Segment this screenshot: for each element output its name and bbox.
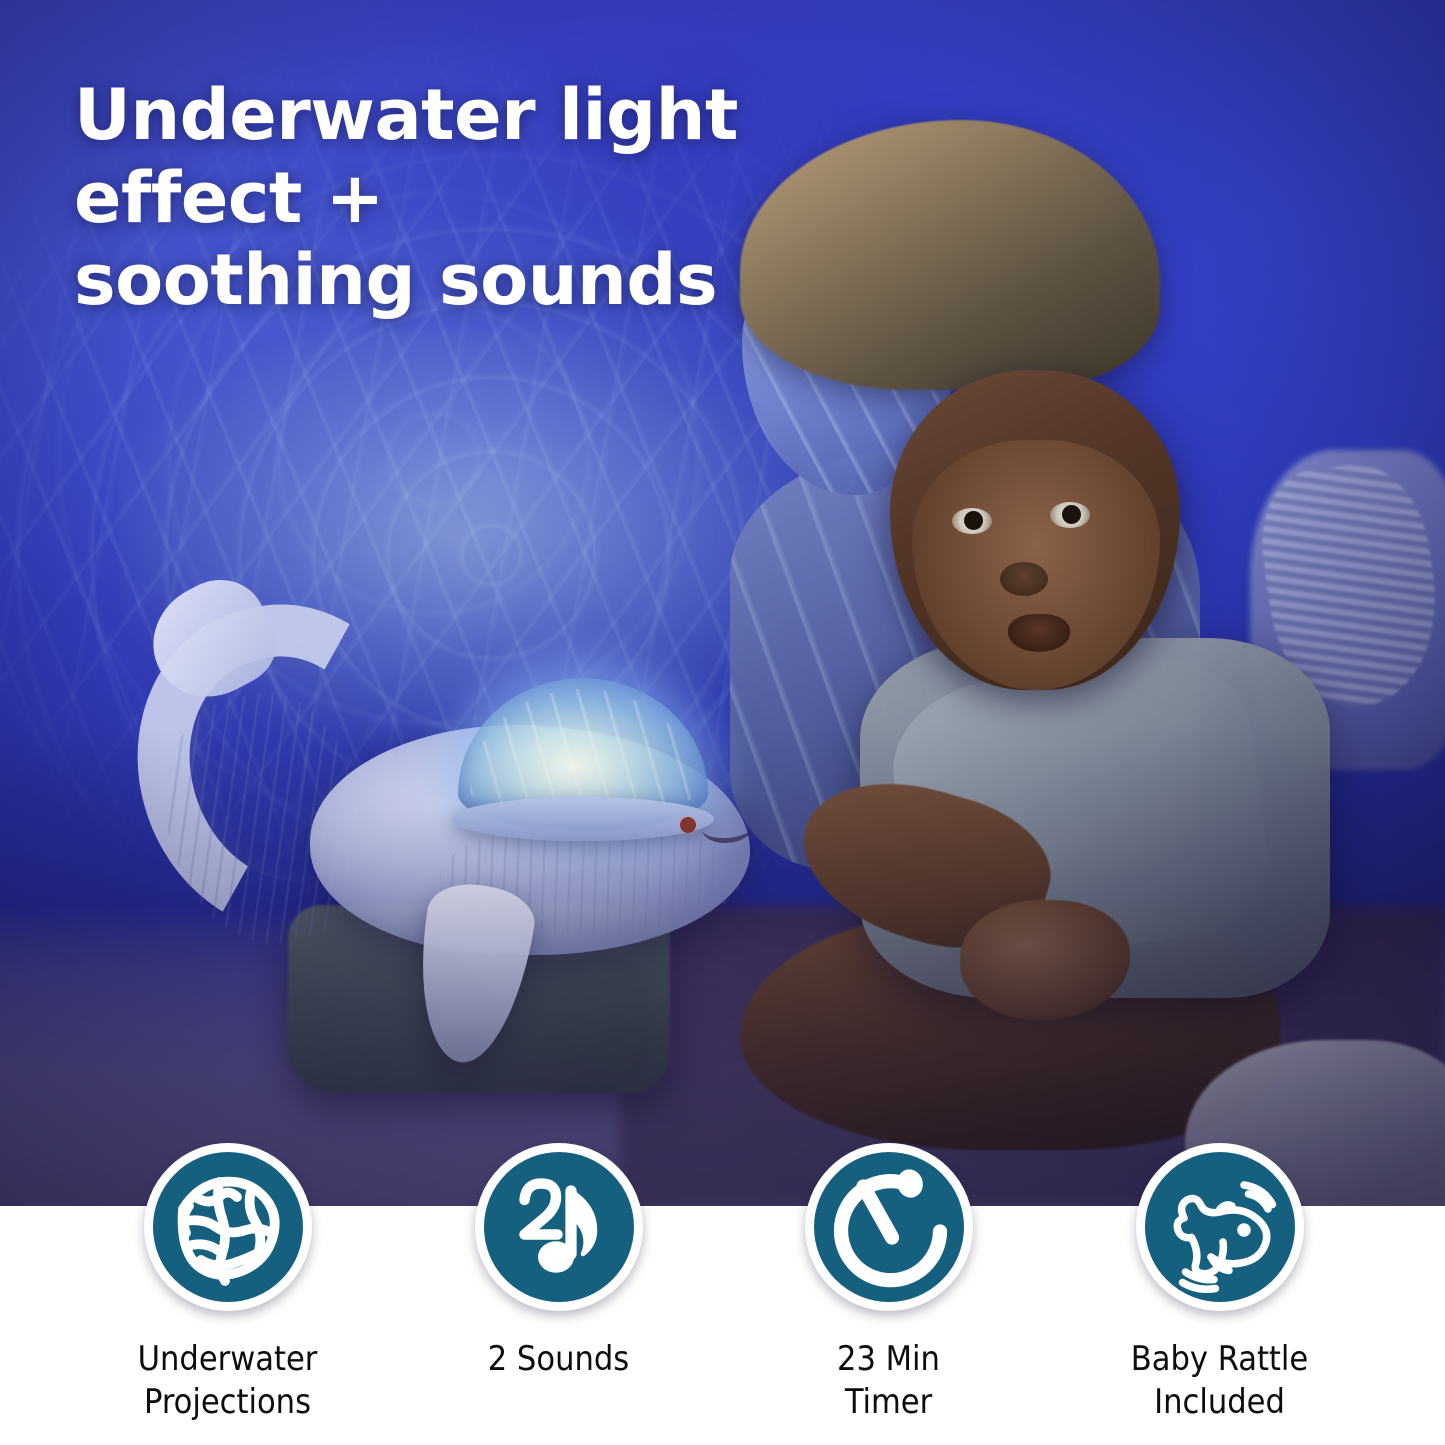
water-caustics-icon <box>144 1143 312 1311</box>
lifestyle-photo: Underwater light effect + soothing sound… <box>0 0 1445 1206</box>
baby <box>860 370 1400 1130</box>
baby-pupil-right <box>1062 505 1081 524</box>
page-title: Underwater light effect + soothing sound… <box>74 74 954 322</box>
baby-mouth <box>1008 614 1070 652</box>
feature-baby-rattle: Baby Rattle Included <box>1054 1206 1385 1445</box>
feature-timer: 23 Min Timer <box>723 1206 1054 1445</box>
headline-line-1: Underwater light effect + <box>74 74 738 239</box>
whale-night-light-product <box>140 585 780 1005</box>
projector-dome-rim <box>452 797 714 841</box>
feature-label: Baby Rattle Included <box>1054 1338 1385 1424</box>
baby-nose <box>1000 562 1048 596</box>
feature-strip: Underwater Projections 2 Sounds <box>0 1206 1445 1445</box>
feature-underwater-projections: Underwater Projections <box>62 1206 393 1445</box>
music-note-two-icon <box>475 1143 643 1311</box>
stopwatch-timer-icon <box>805 1143 973 1311</box>
baby-pupil-left <box>964 511 983 530</box>
feature-two-sounds: 2 Sounds <box>393 1206 724 1445</box>
feature-label: Underwater Projections <box>62 1338 393 1424</box>
product-feature-banner: Underwater light effect + soothing sound… <box>0 0 1445 1445</box>
feature-label: 2 Sounds <box>393 1338 724 1381</box>
whale-eye <box>680 817 696 833</box>
feature-label: 23 Min Timer <box>723 1338 1054 1424</box>
headline-line-2: soothing sounds <box>74 239 954 322</box>
whale-rattle-icon <box>1136 1143 1304 1311</box>
